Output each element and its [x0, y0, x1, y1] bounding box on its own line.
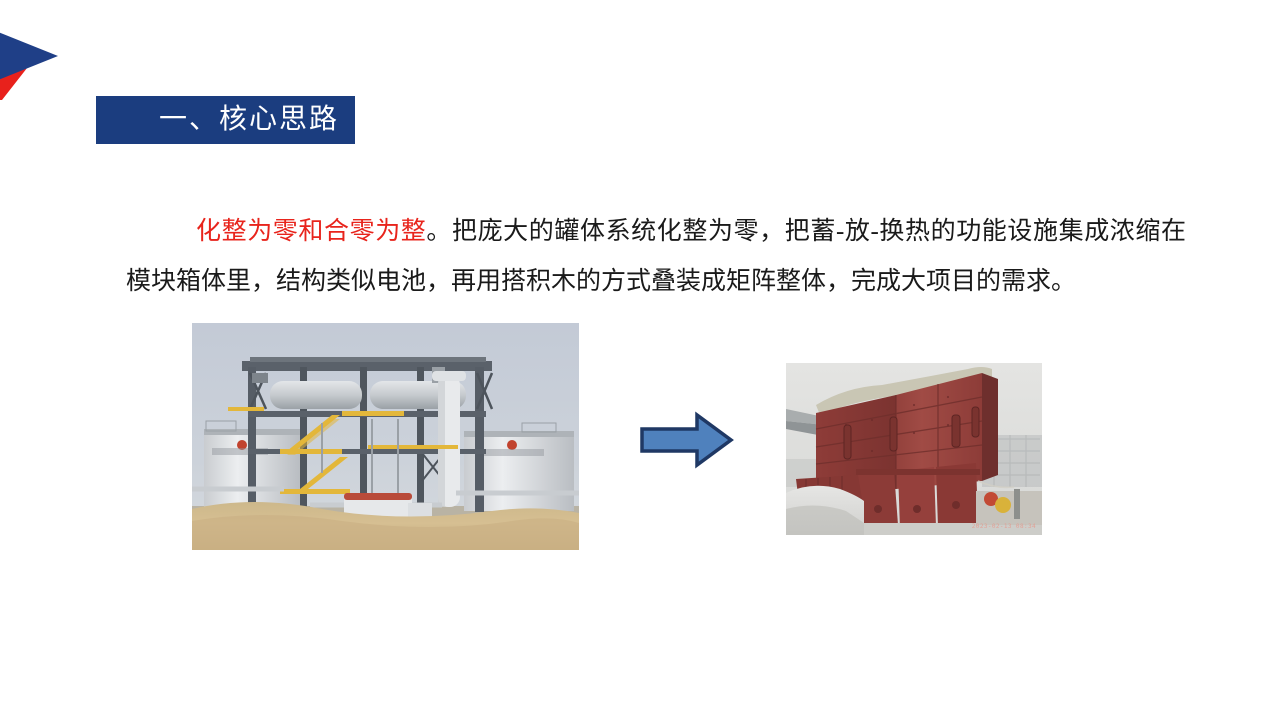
corner-logo — [0, 18, 80, 102]
body-highlight-phrase: 化整为零和合零为整 — [196, 218, 426, 245]
section-title-banner: 一、核心思路 — [96, 96, 355, 144]
right-block-arrow — [639, 411, 734, 469]
modular-red-tank-photo: 2023-02-13 08:34 — [786, 363, 1042, 535]
support-pedestals — [856, 463, 980, 529]
slide-canvas: 一、核心思路 化整为零和合零为整。把庞大的罐体系统化整为零，把蓄-放-换热的功能… — [0, 0, 1280, 720]
body-paragraph: 化整为零和合零为整。把庞大的罐体系统化整为零，把蓄-放-换热的功能设施集成浓缩在… — [126, 207, 1186, 307]
arrow-shape — [642, 415, 731, 465]
photo-timestamp: 2023-02-13 08:34 — [972, 523, 1036, 530]
module-face-right — [982, 373, 998, 481]
page-title: 一、核心思路 — [159, 106, 339, 134]
industrial-tank-farm-photo — [192, 323, 579, 550]
